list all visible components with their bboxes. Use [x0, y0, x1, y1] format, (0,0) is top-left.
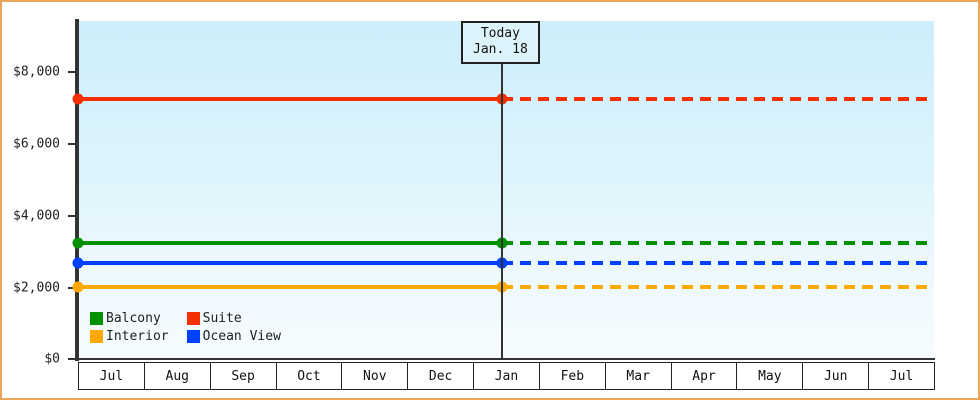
- series-start-point: [73, 94, 84, 105]
- legend-item[interactable]: Balcony: [90, 311, 169, 326]
- month-axis-cell[interactable]: Mar: [606, 363, 672, 389]
- month-axis-cell[interactable]: Jan: [474, 363, 540, 389]
- plot-area: [78, 21, 934, 359]
- y-axis-tick: [68, 143, 76, 145]
- month-axis-cell[interactable]: Jul: [869, 363, 935, 389]
- month-axis: JulAugSepOctNovDecJanFebMarAprMayJunJul: [78, 362, 935, 390]
- price-trend-chart: $8,000$6,000$4,000$2,000$0 Today Jan. 18…: [0, 0, 980, 400]
- month-axis-cell[interactable]: Feb: [540, 363, 606, 389]
- month-axis-cell[interactable]: Dec: [408, 363, 474, 389]
- legend-item[interactable]: Ocean View: [187, 329, 281, 344]
- chart-legend: BalconySuiteInteriorOcean View: [90, 311, 281, 344]
- y-axis-tick: [68, 215, 76, 217]
- month-axis-cell[interactable]: Sep: [211, 363, 277, 389]
- series-line-dashed: [502, 285, 934, 289]
- series-start-point: [73, 238, 84, 249]
- series-line-solid: [78, 97, 502, 101]
- month-axis-cell[interactable]: Jul: [78, 363, 145, 389]
- month-axis-cell[interactable]: Jun: [803, 363, 869, 389]
- series-start-point: [73, 258, 84, 269]
- series-line-dashed: [502, 97, 934, 101]
- month-axis-cell[interactable]: Oct: [277, 363, 343, 389]
- series-line-dashed: [502, 261, 934, 265]
- y-axis-tick-label: $0: [44, 352, 60, 367]
- legend-item-label: Suite: [203, 311, 242, 326]
- month-axis-cell[interactable]: Apr: [672, 363, 738, 389]
- legend-item-label: Balcony: [106, 311, 161, 326]
- legend-color-swatch: [187, 312, 200, 325]
- today-marker-line: [501, 21, 503, 359]
- y-axis-tick-label: $8,000: [13, 65, 60, 80]
- legend-color-swatch: [90, 312, 103, 325]
- month-axis-cell[interactable]: May: [737, 363, 803, 389]
- series-start-point: [73, 282, 84, 293]
- today-tooltip-line1: Today: [473, 26, 528, 42]
- month-axis-cell[interactable]: Aug: [145, 363, 211, 389]
- legend-color-swatch: [187, 330, 200, 343]
- month-axis-cell[interactable]: Nov: [342, 363, 408, 389]
- y-axis-tick-label: $2,000: [13, 281, 60, 296]
- y-axis-tick-label: $6,000: [13, 137, 60, 152]
- legend-item-label: Interior: [106, 329, 169, 344]
- legend-item-label: Ocean View: [203, 329, 281, 344]
- legend-item[interactable]: Interior: [90, 329, 169, 344]
- y-axis-tick: [68, 358, 76, 360]
- y-axis-tick: [68, 71, 76, 73]
- today-tooltip: Today Jan. 18: [461, 21, 540, 64]
- series-line-solid: [78, 261, 502, 265]
- x-axis-line: [78, 358, 935, 360]
- series-line-dashed: [502, 241, 934, 245]
- today-tooltip-line2: Jan. 18: [473, 42, 528, 58]
- y-axis-tick-label: $4,000: [13, 209, 60, 224]
- legend-color-swatch: [90, 330, 103, 343]
- legend-item[interactable]: Suite: [187, 311, 281, 326]
- series-line-solid: [78, 285, 502, 289]
- series-line-solid: [78, 241, 502, 245]
